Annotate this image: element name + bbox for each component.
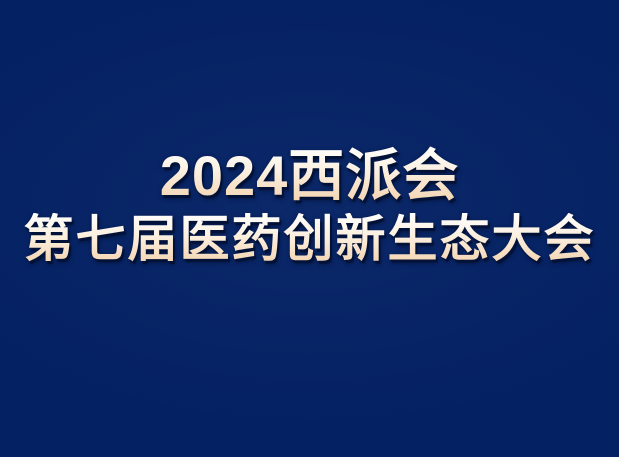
page-title-subtitle: 第七届医药创新生态大会 [24, 213, 596, 266]
title-card-slide: 2024西派会 第七届医药创新生态大会 [0, 0, 619, 457]
page-title-main: 2024西派会 [160, 146, 460, 205]
title-block: 2024西派会 第七届医药创新生态大会 [0, 146, 619, 266]
